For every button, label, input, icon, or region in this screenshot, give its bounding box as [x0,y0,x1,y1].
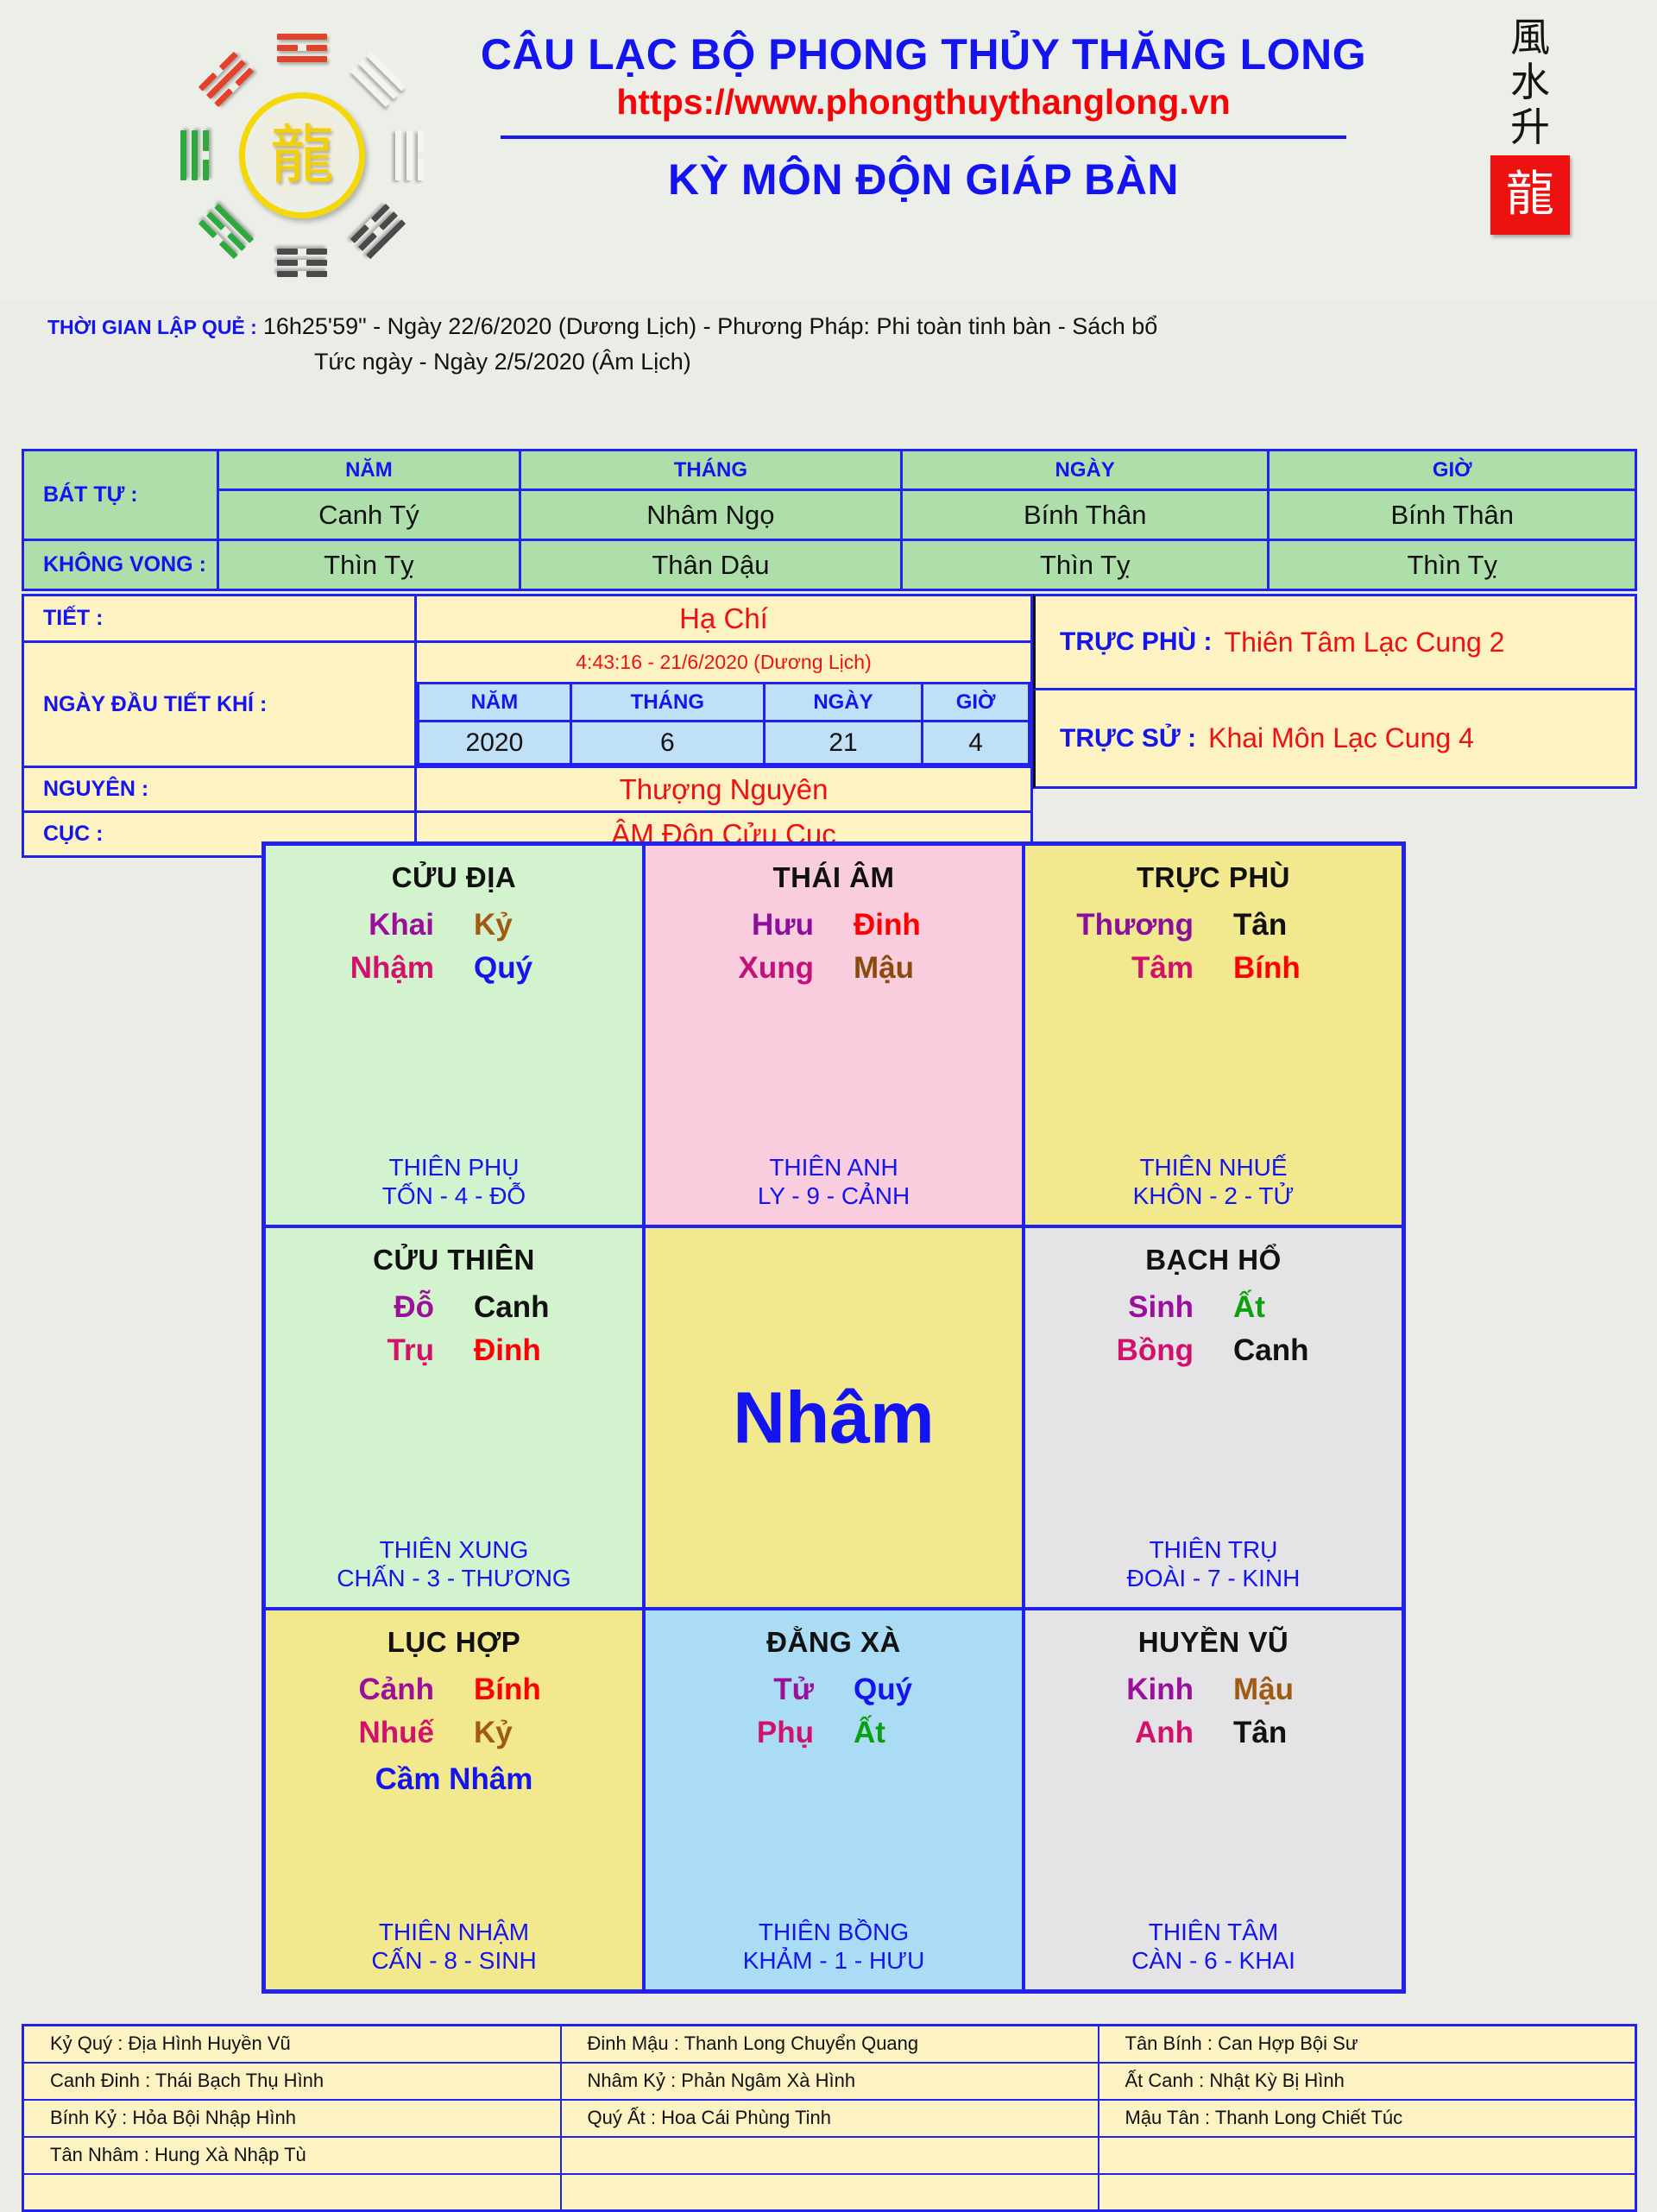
pair-left: Đỗ [305,1290,434,1325]
grid-cell-4[interactable]: CỬU THIÊNĐỗCanhTrụĐinhTHIÊN XUNGCHẤN - 3… [264,1226,644,1609]
center-word: Nhâm [646,1376,1022,1459]
cell-star: THIÊN XUNG [266,1535,642,1565]
pair-right: Mậu [1233,1673,1363,1707]
club-name: CÂU LẠC BỘ PHONG THỦY THĂNG LONG [449,31,1398,78]
pair-right: Tân [1233,1716,1363,1750]
cell-title: TRỰC PHÙ [1137,861,1290,894]
pair-row-1: ĐỗCanh [266,1290,642,1325]
combo-cell-4-1: Tân Nhâm : Hung Xà Nhập Tù [23,2137,561,2174]
cell-pairs: HưuĐinhXungMậu [646,908,1022,994]
club-url[interactable]: https://www.phongthuythanglong.vn [449,83,1398,122]
dragon-medallion: 龍 [239,92,365,218]
khong-vong-nam: Thìn Tỵ [218,540,520,590]
cell-palace: CÀN - 6 - KHAI [1025,1946,1402,1976]
pair-right: Ất [1233,1290,1363,1325]
khong-vong-ngay: Thìn Tỵ [901,540,1268,590]
grid-cell-7[interactable]: LỤC HỢPCảnhBínhNhuếKỷCầm NhâmTHIÊN NHẬMC… [264,1609,644,1991]
pair-row-2: XungMậu [646,951,1022,986]
pair-row-1: KhaiKỷ [266,908,642,942]
pair-left: Cảnh [305,1673,434,1707]
cell-star: THIÊN BỒNG [646,1918,1022,1947]
lunar-date-value: Tức ngày - Ngày 2/5/2020 (Âm Lịch) [314,346,691,377]
pair-row-2: PhụẤt [646,1716,1022,1750]
pair-left: Sinh [1064,1290,1194,1325]
bat-tu-value-nam: Canh Tý [218,490,520,540]
combo-cell-2-2: Nhâm Kỷ : Phản Ngâm Xà Hình [561,2063,1099,2100]
combinations-table: Kỷ Quý : Địa Hình Huyền VũĐinh Mậu : Tha… [22,2024,1637,2212]
khong-vong-thang: Thân Dậu [520,540,901,590]
pair-left: Nhuế [305,1716,434,1750]
pair-right: Tân [1233,908,1363,942]
hanzi-water: 水 [1465,60,1595,105]
col-header-nam: NĂM [218,451,520,490]
cell-pairs: SinhẤtBồngCanh [1025,1290,1402,1377]
cell-palace: CẤN - 8 - SINH [266,1946,642,1976]
pair-row-2: BồngCanh [1025,1333,1402,1368]
col-header-gio: GIỜ [1269,451,1636,490]
casting-time-block: THỜI GIAN LẬP QUẺ : 16h25'59" - Ngày 22/… [0,311,1657,377]
tiet-value: Hạ Chí [416,596,1032,642]
pair-left: Anh [1064,1716,1194,1750]
grid-cell-8[interactable]: ĐẰNG XÀTửQuýPhụẤtTHIÊN BỒNGKHẢM - 1 - HƯ… [644,1609,1024,1991]
pair-row-2: NhuếKỷ [266,1716,642,1750]
combo-cell-4-3 [1099,2137,1636,2174]
trigram-icon-6 [346,199,406,259]
page-title: KỲ MÔN ĐỘN GIÁP BÀN [449,154,1398,205]
ngay-dau-tiet-khi-label: NGÀY ĐẦU TIẾT KHÍ : [23,642,416,767]
dragon-glyph: 龍 [270,123,334,187]
bat-tu-label: BÁT TỰ : [23,451,218,540]
pair-row-1: ThươngTân [1025,908,1402,942]
bat-tu-value-ngay: Bính Thân [901,490,1268,540]
club-logo: 龍 [177,30,427,280]
ngay-dau-tiet-khi-value: 4:43:16 - 21/6/2020 (Dương Lịch) [417,643,1030,682]
hanzi-column: 風 水 升 龍 [1465,16,1595,235]
pair-left: Nhậm [305,951,434,986]
combo-cell-1-1: Kỷ Quý : Địa Hình Huyền Vũ [23,2026,561,2063]
cell-star: THIÊN NHUẾ [1025,1153,1402,1182]
title-divider [501,135,1346,139]
page-header: 龍 CÂU LẠC BỘ PHONG THỦY THĂNG LONG https… [0,0,1657,300]
ky-mon-grid: CỬU ĐỊAKhaiKỷNhậmQuýTHIÊN PHỤTỐN - 4 - Đ… [261,841,1406,1994]
cell-palace: ĐOÀI - 7 - KINH [1025,1564,1402,1593]
inner-header-thang: THÁNG [570,684,764,722]
pair-left: Trụ [305,1333,434,1368]
khong-vong-label: KHÔNG VONG : [23,540,218,590]
cell-title: LỤC HỢP [387,1626,520,1659]
cell-title: CỬU THIÊN [373,1244,535,1276]
cell-star: THIÊN ANH [646,1153,1022,1182]
trigram-icon-4 [198,199,258,259]
cell-palace: KHẢM - 1 - HƯU [646,1946,1022,1976]
cell-footer: THIÊN TRỤĐOÀI - 7 - KINH [1025,1535,1402,1593]
cell-footer: THIÊN PHỤTỐN - 4 - ĐỖ [266,1153,642,1211]
table-row: TIẾT : Hạ Chí [23,596,1032,642]
pair-left: Bồng [1064,1333,1194,1368]
inner-value-ngay: 21 [764,722,922,765]
grid-cell-5[interactable]: Nhâm [644,1226,1024,1609]
cell-pairs: CảnhBínhNhuếKỷ [266,1673,642,1759]
inner-header-gio: GIỜ [923,684,1030,722]
seal-dragon-glyph: 龍 [1506,171,1554,219]
cell-pairs: TửQuýPhụẤt [646,1673,1022,1759]
pair-right: Bính [474,1673,603,1707]
grid-cell-9[interactable]: HUYỀN VŨKinhMậuAnhTânTHIÊN TÂMCÀN - 6 - … [1024,1609,1403,1991]
pair-right: Bính [1233,951,1363,986]
table-row: NĂM THÁNG NGÀY GIỜ [419,684,1030,722]
cell-star: THIÊN TRỤ [1025,1535,1402,1565]
truc-su-value: Khai Môn Lạc Cung 4 [1208,722,1474,754]
pair-row-2: AnhTân [1025,1716,1402,1750]
grid-cell-3[interactable]: TRỰC PHÙThươngTânTâmBínhTHIÊN NHUẾKHÔN -… [1024,844,1403,1226]
pair-left: Hưu [684,908,814,942]
casting-time-label: THỜI GIAN LẬP QUẺ : [47,314,257,341]
pair-left: Xung [684,951,814,986]
pair-right: Đinh [474,1333,603,1368]
combo-cell-3-1: Bính Kỷ : Hỏa Bội Nhập Hình [23,2100,561,2137]
combo-cell-5-3 [1099,2174,1636,2211]
lunar-date-row: Tức ngày - Ngày 2/5/2020 (Âm Lịch) [0,346,1657,377]
grid-cell-1[interactable]: CỬU ĐỊAKhaiKỷNhậmQuýTHIÊN PHỤTỐN - 4 - Đ… [264,844,644,1226]
trigram-icon-8 [346,52,406,111]
pair-right: Ất [854,1716,983,1750]
bat-tu-value-thang: Nhâm Ngọ [520,490,901,540]
pair-left: Tử [684,1673,814,1707]
pair-row-2: NhậmQuý [266,951,642,986]
table-row: Canh Đinh : Thái Bạch Thụ HìnhNhâm Kỷ : … [23,2063,1636,2100]
trigram-icon-1 [277,34,327,68]
pair-left: Thương [1064,908,1194,942]
grid-cell-2[interactable]: THÁI ÂMHưuĐinhXungMậuTHIÊN ANHLY - 9 - C… [644,844,1024,1226]
cell-title: HUYỀN VŨ [1138,1626,1289,1659]
truc-phu-row: TRỰC PHÙ : Thiên Tâm Lạc Cung 2 [1033,594,1637,690]
cell-footer: THIÊN NHUẾKHÔN - 2 - TỬ [1025,1153,1402,1211]
pair-left: Kinh [1064,1673,1194,1707]
pair-left: Khai [305,908,434,942]
cell-palace: LY - 9 - CẢNH [646,1182,1022,1211]
cell-palace: KHÔN - 2 - TỬ [1025,1182,1402,1211]
cell-pairs: KinhMậuAnhTân [1025,1673,1402,1759]
pair-row-1: KinhMậu [1025,1673,1402,1707]
table-row: NGÀY ĐẦU TIẾT KHÍ : 4:43:16 - 21/6/2020 … [23,642,1032,767]
khong-vong-gio: Thìn Tỵ [1269,540,1636,590]
cell-pairs: ĐỗCanhTrụĐinh [266,1290,642,1377]
pair-left: Tâm [1064,951,1194,986]
inner-value-thang: 6 [570,722,764,765]
tiet-label: TIẾT : [23,596,416,642]
table-row: KHÔNG VONG : Thìn Tỵ Thân Dậu Thìn Tỵ Th… [23,540,1636,590]
pair-left: Phụ [684,1716,814,1750]
trigram-icon-7 [389,130,424,180]
pair-right: Quý [854,1673,983,1707]
inner-header-ngay: NGÀY [764,684,922,722]
combo-cell-1-2: Đinh Mậu : Thanh Long Chuyển Quang [561,2026,1099,2063]
table-row: Canh Tý Nhâm Ngọ Bính Thân Bính Thân [23,490,1636,540]
pair-row-2: TâmBính [1025,951,1402,986]
bat-tu-value-gio: Bính Thân [1269,490,1636,540]
pair-right: Canh [474,1290,603,1325]
table-row: Kỷ Quý : Địa Hình Huyền VũĐinh Mậu : Tha… [23,2026,1636,2063]
combo-cell-1-3: Tân Bính : Can Hợp Bội Sư [1099,2026,1636,2063]
pair-right: Mậu [854,951,983,986]
combo-cell-2-1: Canh Đinh : Thái Bạch Thụ Hình [23,2063,561,2100]
table-row [23,2174,1636,2211]
table-row: Bính Kỷ : Hỏa Bội Nhập HìnhQuý Ất : Hoa … [23,2100,1636,2137]
cell-title: CỬU ĐỊA [392,861,517,894]
combo-cell-3-3: Mậu Tân : Thanh Long Chiết Túc [1099,2100,1636,2137]
inner-value-nam: 2020 [419,722,571,765]
cell-title: BẠCH HỔ [1145,1244,1282,1276]
cell-title: ĐẰNG XÀ [766,1626,901,1659]
combo-cell-3-2: Quý Ất : Hoa Cái Phùng Tinh [561,2100,1099,2137]
pair-right: Quý [474,951,603,986]
table-row: 2020 6 21 4 [419,722,1030,765]
cell-footer: THIÊN ANHLY - 9 - CẢNH [646,1153,1022,1211]
cell-footer: THIÊN XUNGCHẤN - 3 - THƯƠNG [266,1535,642,1593]
pair-right: Đinh [854,908,983,942]
nguyen-label: NGUYÊN : [23,767,416,812]
cell-footer: THIÊN BỒNGKHẢM - 1 - HƯU [646,1918,1022,1976]
combo-cell-5-1 [23,2174,561,2211]
table-row: Tân Nhâm : Hung Xà Nhập Tù [23,2137,1636,2174]
cell-title: THÁI ÂM [773,861,895,894]
casting-time-value: 16h25'59" - Ngày 22/6/2020 (Dương Lịch) … [263,311,1157,342]
pair-right: Kỷ [474,1716,603,1750]
title-block: CÂU LẠC BỘ PHONG THỦY THĂNG LONG https:/… [449,31,1398,205]
col-header-ngay: NGÀY [901,451,1268,490]
cell-star: THIÊN PHỤ [266,1153,642,1182]
table-row: NGUYÊN : Thượng Nguyên [23,767,1032,812]
truc-phu-value: Thiên Tâm Lạc Cung 2 [1225,627,1505,659]
pair-row-1: CảnhBính [266,1673,642,1707]
cell-footer: THIÊN TÂMCÀN - 6 - KHAI [1025,1918,1402,1976]
casting-time-row: THỜI GIAN LẬP QUẺ : 16h25'59" - Ngày 22/… [0,311,1657,342]
grid-cell-6[interactable]: BẠCH HỔSinhẤtBồngCanhTHIÊN TRỤĐOÀI - 7 -… [1024,1226,1403,1609]
cell-pairs: KhaiKỷNhậmQuý [266,908,642,994]
seal-stamp: 龍 [1490,155,1570,235]
combo-cell-5-2 [561,2174,1099,2211]
combo-cell-2-3: Ất Canh : Nhật Kỳ Bị Hình [1099,2063,1636,2100]
pair-right: Kỷ [474,908,603,942]
pair-row-1: SinhẤt [1025,1290,1402,1325]
inner-value-gio: 4 [923,722,1030,765]
pair-row-1: TửQuý [646,1673,1022,1707]
table-row: BÁT TỰ : NĂM THÁNG NGÀY GIỜ [23,451,1636,490]
pair-row-2: TrụĐinh [266,1333,642,1368]
pair-row-1: HưuĐinh [646,908,1022,942]
hanzi-wind: 風 [1465,16,1595,60]
pair-right: Canh [1233,1333,1363,1368]
cell-extra: Cầm Nhâm [375,1762,533,1797]
cell-footer: THIÊN NHẬMCẤN - 8 - SINH [266,1918,642,1976]
hanzi-rise: 升 [1465,105,1595,150]
inner-header-nam: NĂM [419,684,571,722]
cell-pairs: ThươngTânTâmBính [1025,908,1402,994]
cell-star: THIÊN NHẬM [266,1918,642,1947]
combo-cell-4-2 [561,2137,1099,2174]
cell-star: THIÊN TÂM [1025,1918,1402,1947]
truc-su-row: TRỰC SỬ : Khai Môn Lạc Cung 4 [1033,690,1637,789]
trigram-icon-5 [277,243,327,277]
cell-palace: CHẤN - 3 - THƯƠNG [266,1564,642,1593]
col-header-thang: THÁNG [520,451,901,490]
trigram-icon-3 [180,130,215,180]
tiet-inner-table: NĂM THÁNG NGÀY GIỜ 2020 6 21 4 [417,682,1030,766]
tiet-table: TIẾT : Hạ Chí NGÀY ĐẦU TIẾT KHÍ : 4:43:1… [22,594,1033,858]
trigram-icon-2 [198,52,258,111]
cell-palace: TỐN - 4 - ĐỖ [266,1182,642,1211]
truc-phu-label: TRỰC PHÙ : [1060,627,1213,657]
nguyen-value: Thượng Nguyên [416,767,1032,812]
truc-su-label: TRỰC SỬ : [1060,724,1196,753]
bat-tu-table: BÁT TỰ : NĂM THÁNG NGÀY GIỜ Canh Tý Nhâm… [22,449,1637,591]
